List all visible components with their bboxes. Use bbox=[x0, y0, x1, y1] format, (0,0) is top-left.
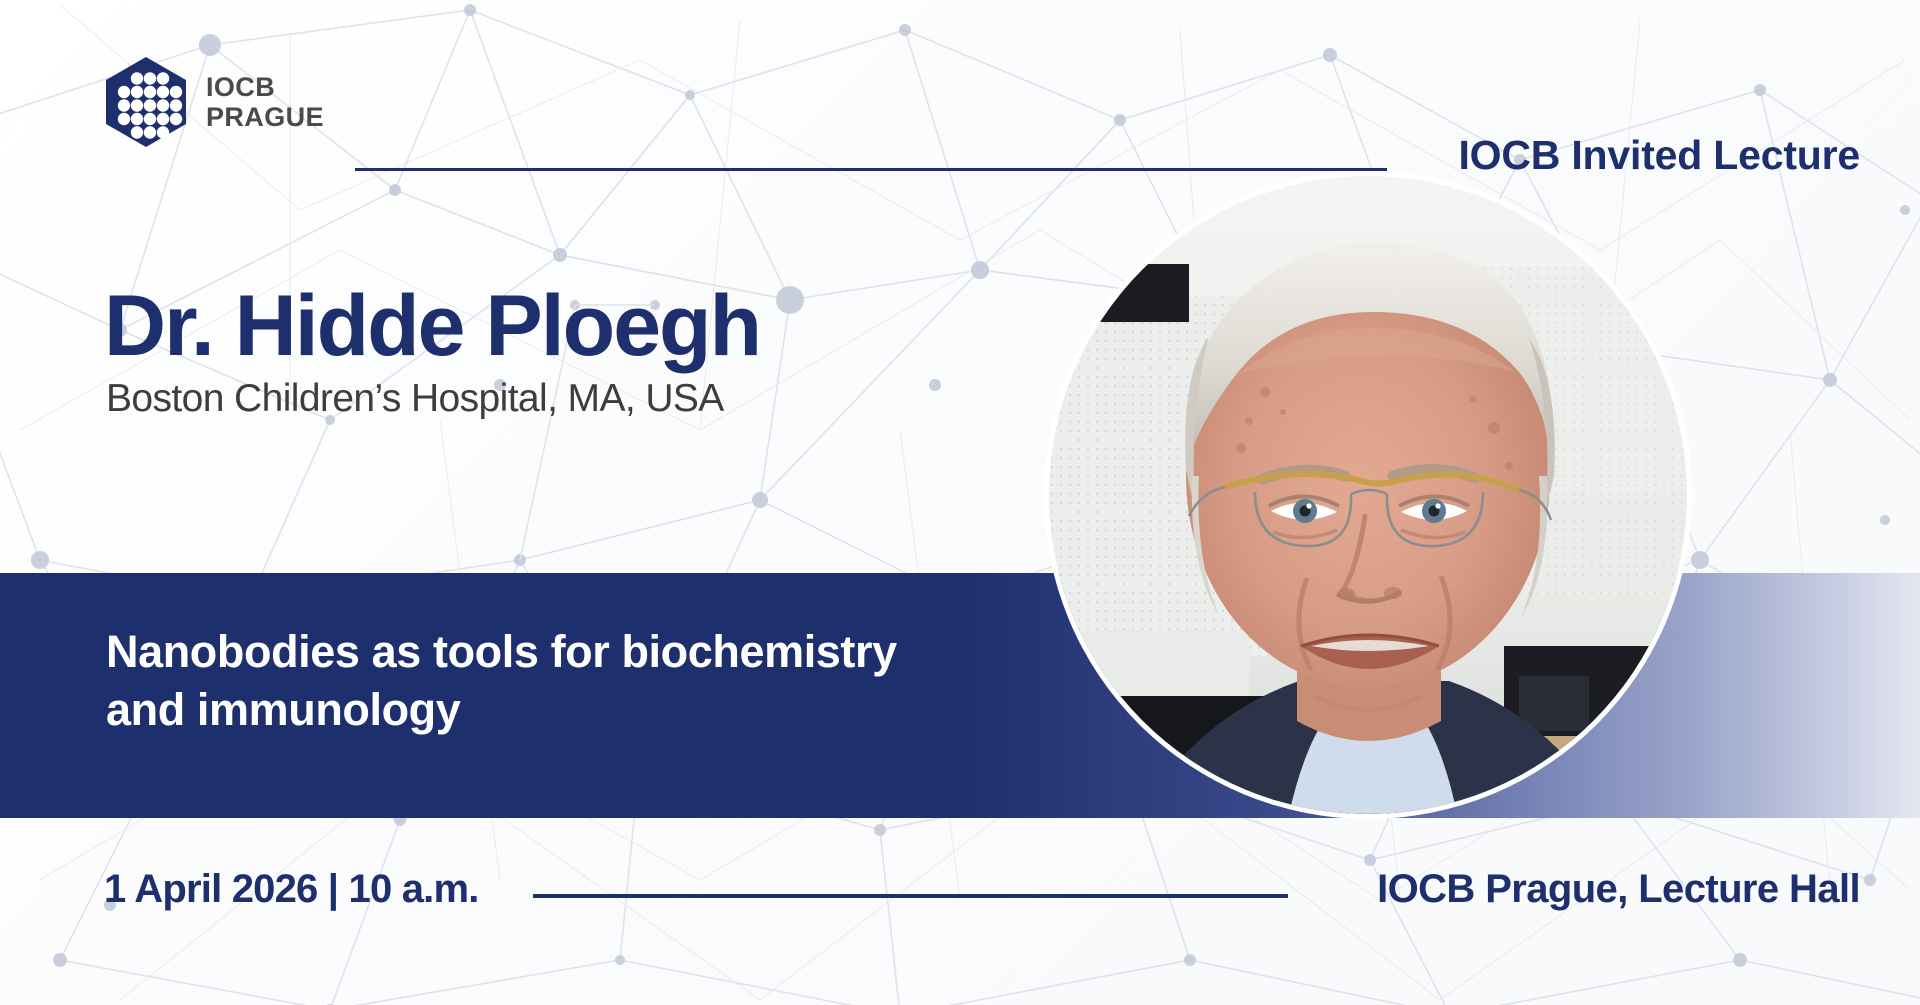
logo-wordmark-line2: PRAGUE bbox=[206, 102, 324, 132]
iocb-logo: IOCB PRAGUE bbox=[104, 56, 324, 148]
header-lecture-label: IOCB Invited Lecture bbox=[1458, 132, 1860, 179]
speaker-affiliation: Boston Children’s Hospital, MA, USA bbox=[106, 377, 724, 421]
poster-root: IOCB PRAGUE IOCB Invited Lecture Dr. Hid… bbox=[0, 0, 1920, 1005]
header-divider-rule bbox=[355, 168, 1387, 171]
logo-wordmark-line1: IOCB bbox=[206, 72, 324, 102]
event-venue: IOCB Prague, Lecture Hall bbox=[1377, 867, 1860, 912]
speaker-name: Dr. Hidde Ploegh bbox=[104, 283, 760, 369]
event-datetime: 1 April 2026 | 10 a.m. bbox=[104, 867, 479, 912]
footer-divider-rule bbox=[533, 894, 1288, 898]
iocb-hexagon-logo-icon bbox=[104, 56, 188, 148]
lecture-title: Nanobodies as tools for biochemistry and… bbox=[106, 623, 897, 738]
lecture-title-line2: and immunology bbox=[106, 681, 897, 739]
portrait-illustration bbox=[1049, 176, 1687, 814]
lecture-title-line1: Nanobodies as tools for biochemistry bbox=[106, 623, 897, 681]
speaker-portrait-photo bbox=[1049, 176, 1687, 814]
poster-header: IOCB PRAGUE IOCB Invited Lecture bbox=[0, 50, 1920, 160]
logo-wordmark: IOCB PRAGUE bbox=[206, 72, 324, 132]
